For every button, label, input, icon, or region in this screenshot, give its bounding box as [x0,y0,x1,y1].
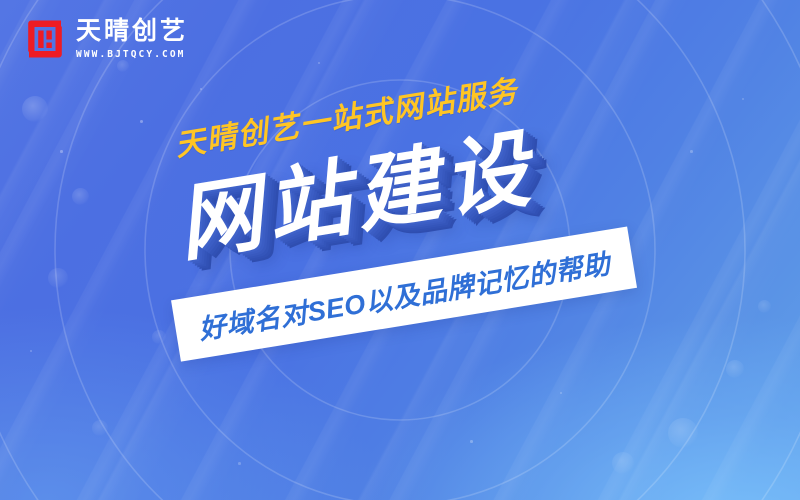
brand-logo[interactable]: 天晴创艺 WWW.BJTQCY.COM [25,18,188,60]
brand-website: WWW.BJTQCY.COM [76,49,188,60]
tqcy-square-logo-icon [25,18,65,60]
brand-name: 天晴创艺 [76,18,188,44]
hero-content: 天晴创艺一站式网站服务 网站建设 好域名对SEO以及品牌记忆的帮助 [0,0,800,500]
promo-banner: 天晴创艺 WWW.BJTQCY.COM 天晴创艺一站式网站服务 网站建设 好域名… [0,0,800,500]
